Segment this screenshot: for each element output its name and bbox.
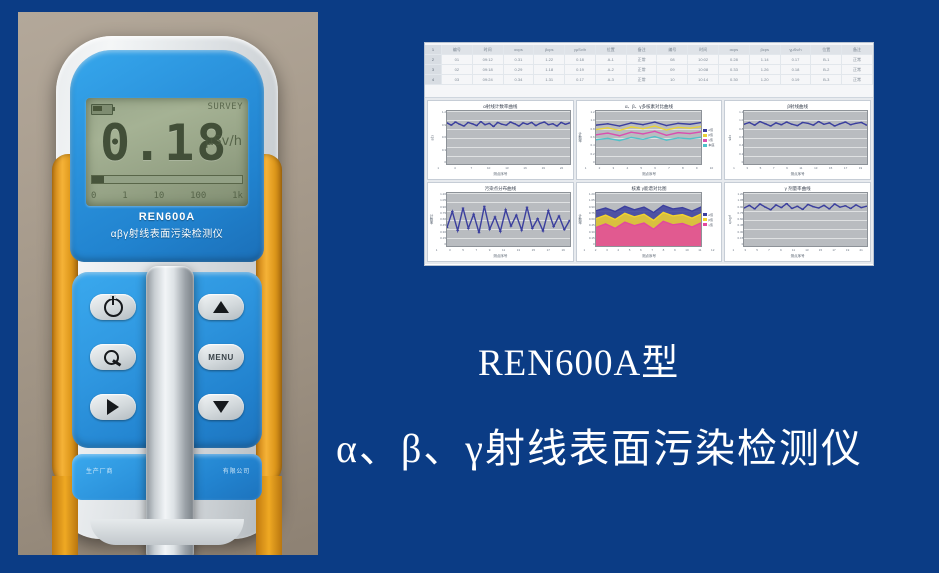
chart-x-tick: 9 bbox=[696, 166, 698, 170]
triangle-up-icon bbox=[213, 301, 229, 313]
chart-legend-item: 本底 bbox=[703, 143, 719, 147]
chart-x-tick: 8 bbox=[682, 166, 684, 170]
chart-legend-swatch bbox=[703, 218, 707, 221]
chart-x-tick: 2 bbox=[595, 248, 597, 252]
chart-y-tick: 1.20 bbox=[584, 193, 595, 196]
chart-legend-label: α值 bbox=[708, 128, 713, 132]
menu-button[interactable]: MENU bbox=[198, 344, 244, 370]
chart-y-tick: 1.2 bbox=[584, 111, 595, 114]
search-button[interactable] bbox=[90, 344, 136, 370]
chart-y-tick: 1.05 bbox=[732, 199, 743, 202]
spreadsheet-cell: 0.18 bbox=[565, 55, 596, 64]
spreadsheet: 1编号时间αcpsβcpsγμSv/h位置备注编号时间αcpsβcpsγμSv/… bbox=[425, 43, 873, 98]
spreadsheet-cell: 1.20 bbox=[750, 75, 781, 84]
chart-y-ticks: 1.21.00.80.60.40.20 bbox=[732, 110, 743, 165]
battery-fill bbox=[93, 106, 102, 111]
chart-x-tick: 5 bbox=[462, 248, 464, 252]
chart-y-ticks: 1.201.050.900.750.600.450.300.150 bbox=[732, 192, 743, 247]
chart-legend-swatch bbox=[703, 139, 707, 142]
chart-y-tick: 0.60 bbox=[732, 218, 743, 221]
chart-x-axis-label: 测点序号 bbox=[579, 253, 720, 259]
chart-y-tick: 0.75 bbox=[732, 212, 743, 215]
spreadsheet-cell: B-3 bbox=[811, 75, 842, 84]
chart-plot bbox=[446, 192, 571, 247]
chart-x-tick: 11 bbox=[698, 248, 701, 252]
chart-plot bbox=[743, 110, 868, 165]
chart-x-tick: 11 bbox=[792, 248, 795, 252]
spreadsheet-cell: 1.31 bbox=[534, 75, 565, 84]
chart-x-tick: 22 bbox=[560, 166, 563, 170]
chart-legend-label: β值 bbox=[708, 218, 713, 222]
chart-x-tick: 9 bbox=[786, 166, 788, 170]
chart-x-tick: 3 bbox=[613, 166, 615, 170]
chart-legend-swatch bbox=[703, 213, 707, 216]
chart-y-tick: 0.6 bbox=[732, 136, 743, 139]
lcd-display: SURVEY 0.18 μSv/h 01101001k bbox=[86, 98, 248, 206]
chart-plot-area: μSv/h1.201.050.900.750.600.450.300.150 bbox=[727, 192, 868, 247]
chart-y-tick: 0.30 bbox=[732, 231, 743, 234]
chart-y-ticks: 1.201.050.900.750.600.450.300.150 bbox=[584, 192, 595, 247]
chart-x-tick: 10 bbox=[685, 248, 688, 252]
chart-x-tick: 6 bbox=[640, 248, 642, 252]
chart-y-tick: 0.8 bbox=[732, 128, 743, 131]
chart-x-tick: 3 bbox=[449, 248, 451, 252]
spreadsheet-cell: 09:12 bbox=[473, 55, 504, 64]
spreadsheet-cell: 10:02 bbox=[688, 55, 719, 64]
chart-x-tick: 9 bbox=[674, 248, 676, 252]
chart-y-tick: 0.4 bbox=[732, 144, 743, 147]
spreadsheet-cell: 正常 bbox=[842, 75, 873, 84]
slide-background: SURVEY 0.18 μSv/h 01101001k REN600A αβγ射… bbox=[0, 0, 939, 573]
chart-y-tick: 0.30 bbox=[435, 231, 446, 234]
chart-y-tick: 1.2 bbox=[732, 111, 743, 114]
chart-x-axis-label: 测点序号 bbox=[430, 171, 571, 177]
chart-plot-area: 计数率1.21.00.80.60.40.20α值β值γ值本底 bbox=[579, 110, 720, 165]
chart-legend-item: γ值 bbox=[703, 223, 719, 227]
chart-x-tick: 5 bbox=[629, 248, 631, 252]
chart-y-axis-label: cps bbox=[431, 135, 435, 140]
chart-x-tick: 5 bbox=[640, 166, 642, 170]
spreadsheet-cell: 0.29 bbox=[504, 65, 535, 74]
chart-y-tick: 0.60 bbox=[435, 218, 446, 221]
chart-y-tick: 0.30 bbox=[584, 231, 595, 234]
menu-button-label: MENU bbox=[208, 353, 234, 362]
chart-y-ticks: 1.201.050.900.750.600.450.300.150 bbox=[435, 192, 446, 247]
chart-x-tick: 4 bbox=[626, 166, 628, 170]
chart-x-tick: 1 bbox=[583, 248, 585, 252]
chart-x-tick: 2 bbox=[599, 166, 601, 170]
chart-plot-area: cps1.20.90.60.30 bbox=[430, 110, 571, 165]
spreadsheet-column-header: βcps bbox=[750, 45, 781, 54]
chart-y-tick: 0.90 bbox=[584, 206, 595, 209]
spreadsheet-column-header: 位置 bbox=[811, 45, 842, 54]
lcd-bargraph-fill bbox=[92, 176, 104, 183]
chart-card: γ 剂量率曲线μSv/h1.201.050.900.750.600.450.30… bbox=[724, 182, 871, 262]
chart-plot bbox=[446, 110, 571, 165]
spreadsheet-column-header: 时间 bbox=[473, 45, 504, 54]
chart-y-tick: 0.75 bbox=[584, 212, 595, 215]
spreadsheet-column-header: 编号 bbox=[657, 45, 688, 54]
spreadsheet-column-header: γμSv/h bbox=[781, 45, 812, 54]
chart-y-axis-label: μSv/h bbox=[728, 215, 732, 224]
spreadsheet-cell: 正常 bbox=[627, 65, 658, 74]
product-model-title: REN600A型 bbox=[478, 332, 679, 386]
spreadsheet-cell: B-2 bbox=[811, 65, 842, 74]
chart-y-tick: 1.0 bbox=[732, 119, 743, 122]
spreadsheet-cell: 08 bbox=[657, 55, 688, 64]
chart-x-tick: 15 bbox=[829, 166, 832, 170]
spreadsheet-column-header: αcps bbox=[504, 45, 535, 54]
chart-y-tick: 0.2 bbox=[732, 153, 743, 156]
spreadsheet-cell: A-2 bbox=[596, 65, 627, 74]
chart-x-tick: 8 bbox=[663, 248, 665, 252]
chart-y-tick: 0 bbox=[732, 243, 743, 246]
power-icon bbox=[104, 298, 123, 317]
spreadsheet-cell: 0.33 bbox=[719, 65, 750, 74]
chart-x-tick: 17 bbox=[547, 248, 550, 252]
chart-x-tick: 16 bbox=[523, 166, 526, 170]
chart-title: α射线计数率曲线 bbox=[430, 103, 571, 110]
product-photo: SURVEY 0.18 μSv/h 01101001k REN600A αβγ射… bbox=[18, 12, 318, 555]
spreadsheet-column-header: αcps bbox=[719, 45, 750, 54]
device-body: SURVEY 0.18 μSv/h 01101001k REN600A αβγ射… bbox=[56, 36, 278, 539]
chart-title: α、β、γ多核素对比曲线 bbox=[579, 103, 720, 110]
spreadsheet-column-header: 编号 bbox=[442, 45, 473, 54]
triangle-down-icon bbox=[213, 401, 229, 413]
spreadsheet-cell: 0.28 bbox=[719, 55, 750, 64]
spreadsheet-cell: 正常 bbox=[627, 55, 658, 64]
chart-legend-item: γ值 bbox=[703, 138, 719, 142]
chart-title: β射线曲线 bbox=[727, 103, 868, 110]
chart-y-tick: 0.45 bbox=[732, 224, 743, 227]
chart-y-tick: 0.60 bbox=[584, 218, 595, 221]
spreadsheet-cell: 正常 bbox=[842, 65, 873, 74]
chart-legend-swatch bbox=[703, 144, 707, 147]
spreadsheet-cell: 10:08 bbox=[688, 65, 719, 74]
software-screenshot-panel: 1编号时间αcpsβcpsγμSv/h位置备注编号时间αcpsβcpsγμSv/… bbox=[424, 42, 874, 266]
spreadsheet-cell: 1.14 bbox=[750, 55, 781, 64]
chart-y-tick: 0.9 bbox=[435, 124, 446, 127]
chart-y-tick: 1.05 bbox=[584, 199, 595, 202]
chart-x-tick: 15 bbox=[819, 248, 822, 252]
chart-x-tick: 12 bbox=[711, 248, 714, 252]
chart-x-tick: 19 bbox=[859, 166, 862, 170]
chart-y-tick: 1.05 bbox=[435, 199, 446, 202]
chart-x-tick: 7 bbox=[470, 166, 472, 170]
lcd-scale-tick: 1 bbox=[122, 191, 127, 201]
device-fineprint-right: 有限公司 bbox=[223, 466, 250, 475]
lcd-scale-tick: 0 bbox=[91, 191, 96, 201]
chart-y-tick: 0 bbox=[732, 161, 743, 164]
spreadsheet-cell: 09 bbox=[657, 65, 688, 74]
lcd-unit: μSv/h bbox=[205, 134, 242, 149]
spreadsheet-row-header: 4 bbox=[425, 75, 442, 84]
chart-x-tick: 7 bbox=[768, 248, 770, 252]
chart-x-tick: 5 bbox=[756, 248, 758, 252]
lcd-scale-tick: 100 bbox=[190, 191, 206, 201]
spreadsheet-cell: 1.26 bbox=[750, 65, 781, 74]
lcd-bargraph bbox=[91, 175, 243, 184]
chart-y-tick: 0 bbox=[584, 243, 595, 246]
chart-legend-item: α值 bbox=[703, 213, 719, 217]
chart-legend-label: α值 bbox=[708, 213, 713, 217]
chart-x-axis-label: 测点序号 bbox=[727, 253, 868, 259]
chart-card: α、β、γ多核素对比曲线计数率1.21.00.80.60.40.20α值β值γ值… bbox=[576, 100, 723, 180]
spreadsheet-row: 20109:120.311.220.18A-1正常0810:020.281.14… bbox=[425, 55, 873, 65]
chart-x-tick: 7 bbox=[668, 166, 670, 170]
chart-x-axis-label: 测点序号 bbox=[430, 253, 571, 259]
chart-x-tick: 1 bbox=[437, 166, 439, 170]
magnifier-icon bbox=[104, 350, 122, 364]
spreadsheet-cell: 0.17 bbox=[781, 55, 812, 64]
chart-x-tick: 3 bbox=[746, 166, 748, 170]
spreadsheet-row-header: 3 bbox=[425, 65, 442, 74]
chart-x-tick: 19 bbox=[542, 166, 545, 170]
chart-legend: α值β值γ值本底 bbox=[702, 110, 719, 165]
chart-x-tick: 1 bbox=[585, 166, 587, 170]
chart-legend-label: γ值 bbox=[708, 138, 713, 142]
chart-x-tick: 19 bbox=[846, 248, 849, 252]
chart-y-tick: 0.8 bbox=[584, 128, 595, 131]
chart-title: 污染点分布曲线 bbox=[430, 185, 571, 192]
chart-x-tick: 3 bbox=[606, 248, 608, 252]
spreadsheet-cell: 10 bbox=[657, 75, 688, 84]
chart-plot bbox=[743, 192, 868, 247]
chart-legend-item: β值 bbox=[703, 133, 719, 137]
chart-card: α射线计数率曲线cps1.20.90.60.301471013161922测点序… bbox=[427, 100, 574, 180]
spreadsheet-cell: 0.19 bbox=[781, 75, 812, 84]
chart-x-tick: 6 bbox=[654, 166, 656, 170]
chart-y-tick: 0.15 bbox=[732, 237, 743, 240]
spreadsheet-cell: 01 bbox=[442, 55, 473, 64]
chart-plot-area: 计数率1.201.050.900.750.600.450.300.150α值β值… bbox=[579, 192, 720, 247]
chart-legend-swatch bbox=[703, 223, 707, 226]
spreadsheet-column-header: 时间 bbox=[688, 45, 719, 54]
chart-legend-swatch bbox=[703, 134, 707, 137]
chart-x-tick: 13 bbox=[805, 248, 808, 252]
spreadsheet-column-header: γμSv/h bbox=[565, 45, 596, 54]
chart-x-tick: 1 bbox=[732, 248, 734, 252]
chart-y-ticks: 1.21.00.80.60.40.20 bbox=[584, 110, 595, 165]
device-foot bbox=[90, 519, 244, 545]
spreadsheet-row-header: 1 bbox=[425, 45, 442, 54]
chart-legend-label: 本底 bbox=[708, 143, 714, 147]
spreadsheet-cell: 1.22 bbox=[534, 55, 565, 64]
chart-card: β射线曲线cps1.21.00.80.60.40.201357911131517… bbox=[724, 100, 871, 180]
chart-x-tick: 13 bbox=[505, 166, 508, 170]
product-description-title: α、β、γ射线表面污染检测仪 bbox=[336, 416, 863, 474]
chart-plot-area: 计数率1.201.050.900.750.600.450.300.150 bbox=[430, 192, 571, 247]
chart-x-axis-label: 测点序号 bbox=[579, 171, 720, 177]
chart-plot-area: cps1.21.00.80.60.40.20 bbox=[727, 110, 868, 165]
chart-y-tick: 0 bbox=[435, 161, 446, 164]
chart-legend: α值β值γ值 bbox=[702, 192, 719, 247]
power-button[interactable] bbox=[90, 294, 136, 320]
chart-y-tick: 0.15 bbox=[435, 237, 446, 240]
spreadsheet-header-row: 1编号时间αcpsβcpsγμSv/h位置备注编号时间αcpsβcpsγμSv/… bbox=[425, 45, 873, 55]
spreadsheet-cell: 0.30 bbox=[719, 75, 750, 84]
chart-legend-label: β值 bbox=[708, 133, 713, 137]
chart-x-tick: 11 bbox=[502, 248, 505, 252]
chart-plot bbox=[595, 192, 703, 247]
chart-x-tick: 11 bbox=[799, 166, 802, 170]
chart-y-tick: 0 bbox=[584, 161, 595, 164]
chart-x-tick: 4 bbox=[454, 166, 456, 170]
spreadsheet-cell: 0.31 bbox=[504, 55, 535, 64]
chart-legend-item: β值 bbox=[703, 218, 719, 222]
chart-x-tick: 9 bbox=[489, 248, 491, 252]
chart-x-tick: 21 bbox=[859, 248, 862, 252]
spreadsheet-cell: 0.19 bbox=[565, 65, 596, 74]
chart-y-ticks: 1.20.90.60.30 bbox=[435, 110, 446, 165]
chart-y-tick: 0.6 bbox=[435, 136, 446, 139]
spreadsheet-column-header: βcps bbox=[534, 45, 565, 54]
chart-y-axis-label: cps bbox=[728, 135, 732, 140]
down-button[interactable] bbox=[198, 394, 244, 420]
device-fineprint-left: 生产厂商 bbox=[86, 466, 113, 475]
chart-x-tick: 1 bbox=[436, 248, 438, 252]
chart-x-tick: 10 bbox=[487, 166, 490, 170]
triangle-right-icon bbox=[107, 399, 119, 415]
spreadsheet-column-header: 位置 bbox=[596, 45, 627, 54]
chart-x-tick: 9 bbox=[780, 248, 782, 252]
chart-x-tick: 1 bbox=[733, 166, 735, 170]
chart-x-tick: 5 bbox=[760, 166, 762, 170]
chart-x-tick: 13 bbox=[814, 166, 817, 170]
lcd-scale-tick: 10 bbox=[153, 191, 164, 201]
spreadsheet-cell: 0.18 bbox=[781, 65, 812, 74]
chart-x-tick: 4 bbox=[617, 248, 619, 252]
chart-y-tick: 0.90 bbox=[435, 206, 446, 209]
chart-x-tick: 7 bbox=[773, 166, 775, 170]
hand-strap bbox=[146, 266, 194, 555]
spreadsheet-column-header: 备注 bbox=[627, 45, 658, 54]
spreadsheet-row: 30209:180.291.180.19A-2正常0910:080.331.26… bbox=[425, 65, 873, 75]
play-button[interactable] bbox=[90, 394, 136, 420]
chart-title: 核素 γ能谱对比图 bbox=[579, 185, 720, 192]
chart-x-tick: 7 bbox=[476, 248, 478, 252]
chart-legend-swatch bbox=[703, 129, 707, 132]
spreadsheet-cell: 0.34 bbox=[504, 75, 535, 84]
chart-x-tick: 7 bbox=[651, 248, 653, 252]
spreadsheet-row: 40309:240.341.310.17A-3正常1010:140.301.20… bbox=[425, 75, 873, 85]
chart-y-tick: 0.75 bbox=[435, 212, 446, 215]
chart-y-tick: 1.2 bbox=[435, 111, 446, 114]
chart-y-tick: 1.20 bbox=[435, 193, 446, 196]
chart-y-tick: 0.4 bbox=[584, 144, 595, 147]
chart-x-tick: 15 bbox=[532, 248, 535, 252]
chart-y-tick: 0 bbox=[435, 243, 446, 246]
chart-y-tick: 0.45 bbox=[584, 224, 595, 227]
chart-y-tick: 0.6 bbox=[584, 136, 595, 139]
chart-y-tick: 0.2 bbox=[584, 153, 595, 156]
chart-card: 核素 γ能谱对比图计数率1.201.050.900.750.600.450.30… bbox=[576, 182, 723, 262]
spreadsheet-cell: 10:14 bbox=[688, 75, 719, 84]
chart-y-tick: 0.15 bbox=[584, 237, 595, 240]
spreadsheet-cell: 02 bbox=[442, 65, 473, 74]
chart-legend-label: γ值 bbox=[708, 223, 713, 227]
spreadsheet-column-header: 备注 bbox=[842, 45, 873, 54]
chart-y-tick: 0.45 bbox=[435, 224, 446, 227]
lcd-scale-tick: 1k bbox=[232, 191, 243, 201]
chart-y-tick: 0.3 bbox=[435, 149, 446, 152]
chart-x-tick: 10 bbox=[710, 166, 713, 170]
chart-x-tick: 17 bbox=[832, 248, 835, 252]
chart-y-tick: 1.0 bbox=[584, 119, 595, 122]
chart-x-tick: 17 bbox=[844, 166, 847, 170]
spreadsheet-cell: 09:18 bbox=[473, 65, 504, 74]
spreadsheet-cell: A-1 bbox=[596, 55, 627, 64]
spreadsheet-cell: 09:24 bbox=[473, 75, 504, 84]
spreadsheet-cell: B-1 bbox=[811, 55, 842, 64]
spreadsheet-cell: 0.17 bbox=[565, 75, 596, 84]
spreadsheet-row-header: 2 bbox=[425, 55, 442, 64]
spreadsheet-cell: 1.18 bbox=[534, 65, 565, 74]
chart-x-axis-label: 测点序号 bbox=[727, 171, 868, 177]
chart-legend-item: α值 bbox=[703, 128, 719, 132]
chart-title: γ 剂量率曲线 bbox=[727, 185, 868, 192]
lcd-scale: 01101001k bbox=[91, 189, 243, 203]
chart-card: 污染点分布曲线计数率1.201.050.900.750.600.450.300.… bbox=[427, 182, 574, 262]
up-button[interactable] bbox=[198, 294, 244, 320]
chart-y-tick: 1.20 bbox=[732, 193, 743, 196]
chart-x-tick: 13 bbox=[517, 248, 520, 252]
spreadsheet-cell: 正常 bbox=[842, 55, 873, 64]
chart-plot bbox=[595, 110, 703, 165]
device-top-face: SURVEY 0.18 μSv/h 01101001k bbox=[70, 50, 264, 262]
chart-grid: α射线计数率曲线cps1.20.90.60.301471013161922测点序… bbox=[425, 98, 873, 264]
chart-x-tick: 3 bbox=[744, 248, 746, 252]
spreadsheet-cell: A-3 bbox=[596, 75, 627, 84]
chart-x-tick: 19 bbox=[562, 248, 565, 252]
spreadsheet-cell: 03 bbox=[442, 75, 473, 84]
lcd-mode-text: SURVEY bbox=[207, 102, 243, 112]
chart-y-tick: 0.90 bbox=[732, 206, 743, 209]
spreadsheet-cell: 正常 bbox=[627, 75, 658, 84]
